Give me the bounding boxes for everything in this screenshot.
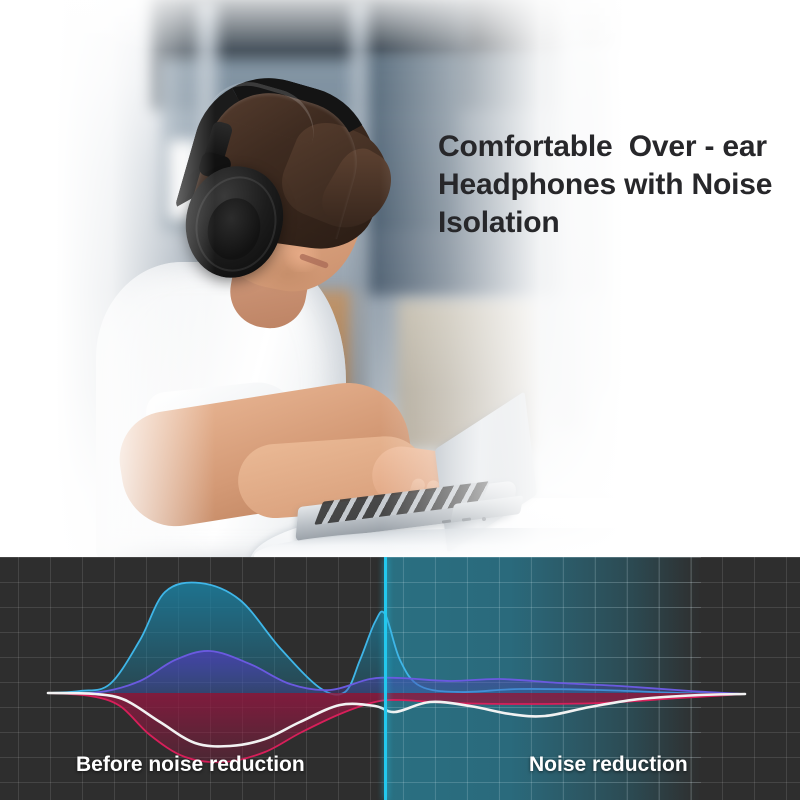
photo-fade-left [0,0,215,557]
headline-line-2: Headphones with Noise [438,166,778,204]
headline-line-1: Comfortable Over - ear [438,128,778,166]
label-before-noise-reduction: Before noise reduction [76,753,305,777]
product-banner: Comfortable Over - ear Headphones with N… [0,0,800,800]
hero-photo [0,0,800,557]
headline-line-3: Isolation [438,204,778,242]
label-noise-reduction: Noise reduction [529,753,688,777]
photo-fade-top [0,0,800,50]
noise-reduction-divider [384,557,387,800]
photo-fade-right [380,0,800,557]
headline: Comfortable Over - ear Headphones with N… [438,128,778,242]
